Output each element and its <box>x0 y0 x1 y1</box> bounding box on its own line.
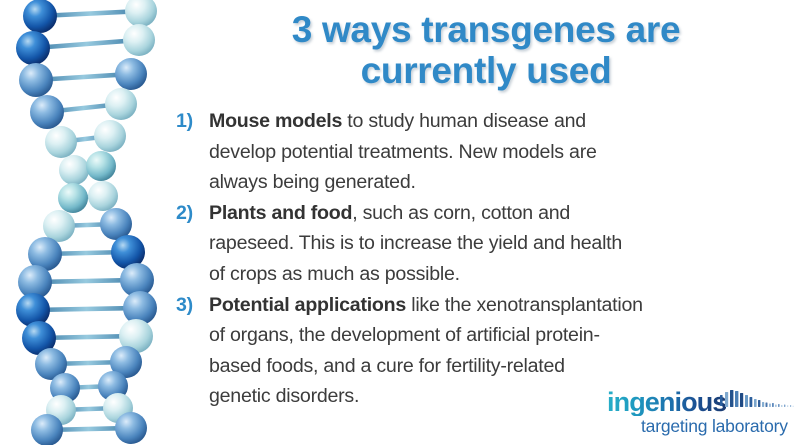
list-item-number: 1) <box>176 106 193 137</box>
list-item: 1) Mouse models to study human disease a… <box>176 106 800 198</box>
dna-strand-left <box>16 0 89 445</box>
transgene-uses-list: 1) Mouse models to study human disease a… <box>176 106 800 412</box>
list-item-line: always being generated. <box>209 167 800 198</box>
page-title: 3 ways transgenes are currently used <box>176 9 796 91</box>
list-item-text: develop potential treatments. New models… <box>209 141 597 163</box>
list-item-text: of crops as much as possible. <box>209 263 460 285</box>
list-item-number: 2) <box>176 198 193 229</box>
list-item-number: 3) <box>176 290 193 321</box>
list-item-lead: Plants and food <box>209 202 352 224</box>
list-item-line: of organs, the development of artificial… <box>209 320 800 351</box>
infographic-slide: 3 ways transgenes are currently used 1) … <box>0 0 800 445</box>
dna-strand-right <box>86 0 157 444</box>
list-item: 2) Plants and food, such as corn, cotton… <box>176 198 800 290</box>
title-line-1: 3 ways transgenes are <box>176 9 796 50</box>
list-item-text: genetic disorders. <box>209 385 359 407</box>
list-item-line: rapeseed. This is to increase the yield … <box>209 228 800 259</box>
list-item-lead: Potential applications <box>209 294 406 316</box>
list-item-text: , such as corn, cotton and <box>352 202 570 224</box>
list-item-line: of crops as much as possible. <box>209 259 800 290</box>
list-item-text: of organs, the development of artificial… <box>209 324 600 346</box>
list-item-text: to study human disease and <box>342 110 586 132</box>
list-item-lead: Mouse models <box>209 110 342 132</box>
logo-tagline: targeting laboratory <box>641 416 788 436</box>
list-item-text: like the xenotransplantation <box>406 294 643 316</box>
list-item-line: based foods, and a cure for fertility-re… <box>209 351 800 382</box>
list-item-text: based foods, and a cure for fertility-re… <box>209 355 565 377</box>
title-line-2: currently used <box>176 50 796 91</box>
list-item-text: always being generated. <box>209 171 416 193</box>
list-item-line: develop potential treatments. New models… <box>209 137 800 168</box>
ingenious-targeting-laboratory-logo[interactable]: ingenious <box>607 388 797 440</box>
dna-double-helix-illustration <box>0 0 172 445</box>
list-item-line: Potential applications like the xenotran… <box>209 290 800 321</box>
list-item-line: Plants and food, such as corn, cotton an… <box>209 198 800 229</box>
bar-chart-mark-icon <box>720 390 796 414</box>
logo-wordmark: ingenious <box>607 388 726 416</box>
list-item-line: Mouse models to study human disease and <box>209 106 800 137</box>
dna-helix-svg <box>0 0 172 445</box>
list-item-text: rapeseed. This is to increase the yield … <box>209 232 622 254</box>
